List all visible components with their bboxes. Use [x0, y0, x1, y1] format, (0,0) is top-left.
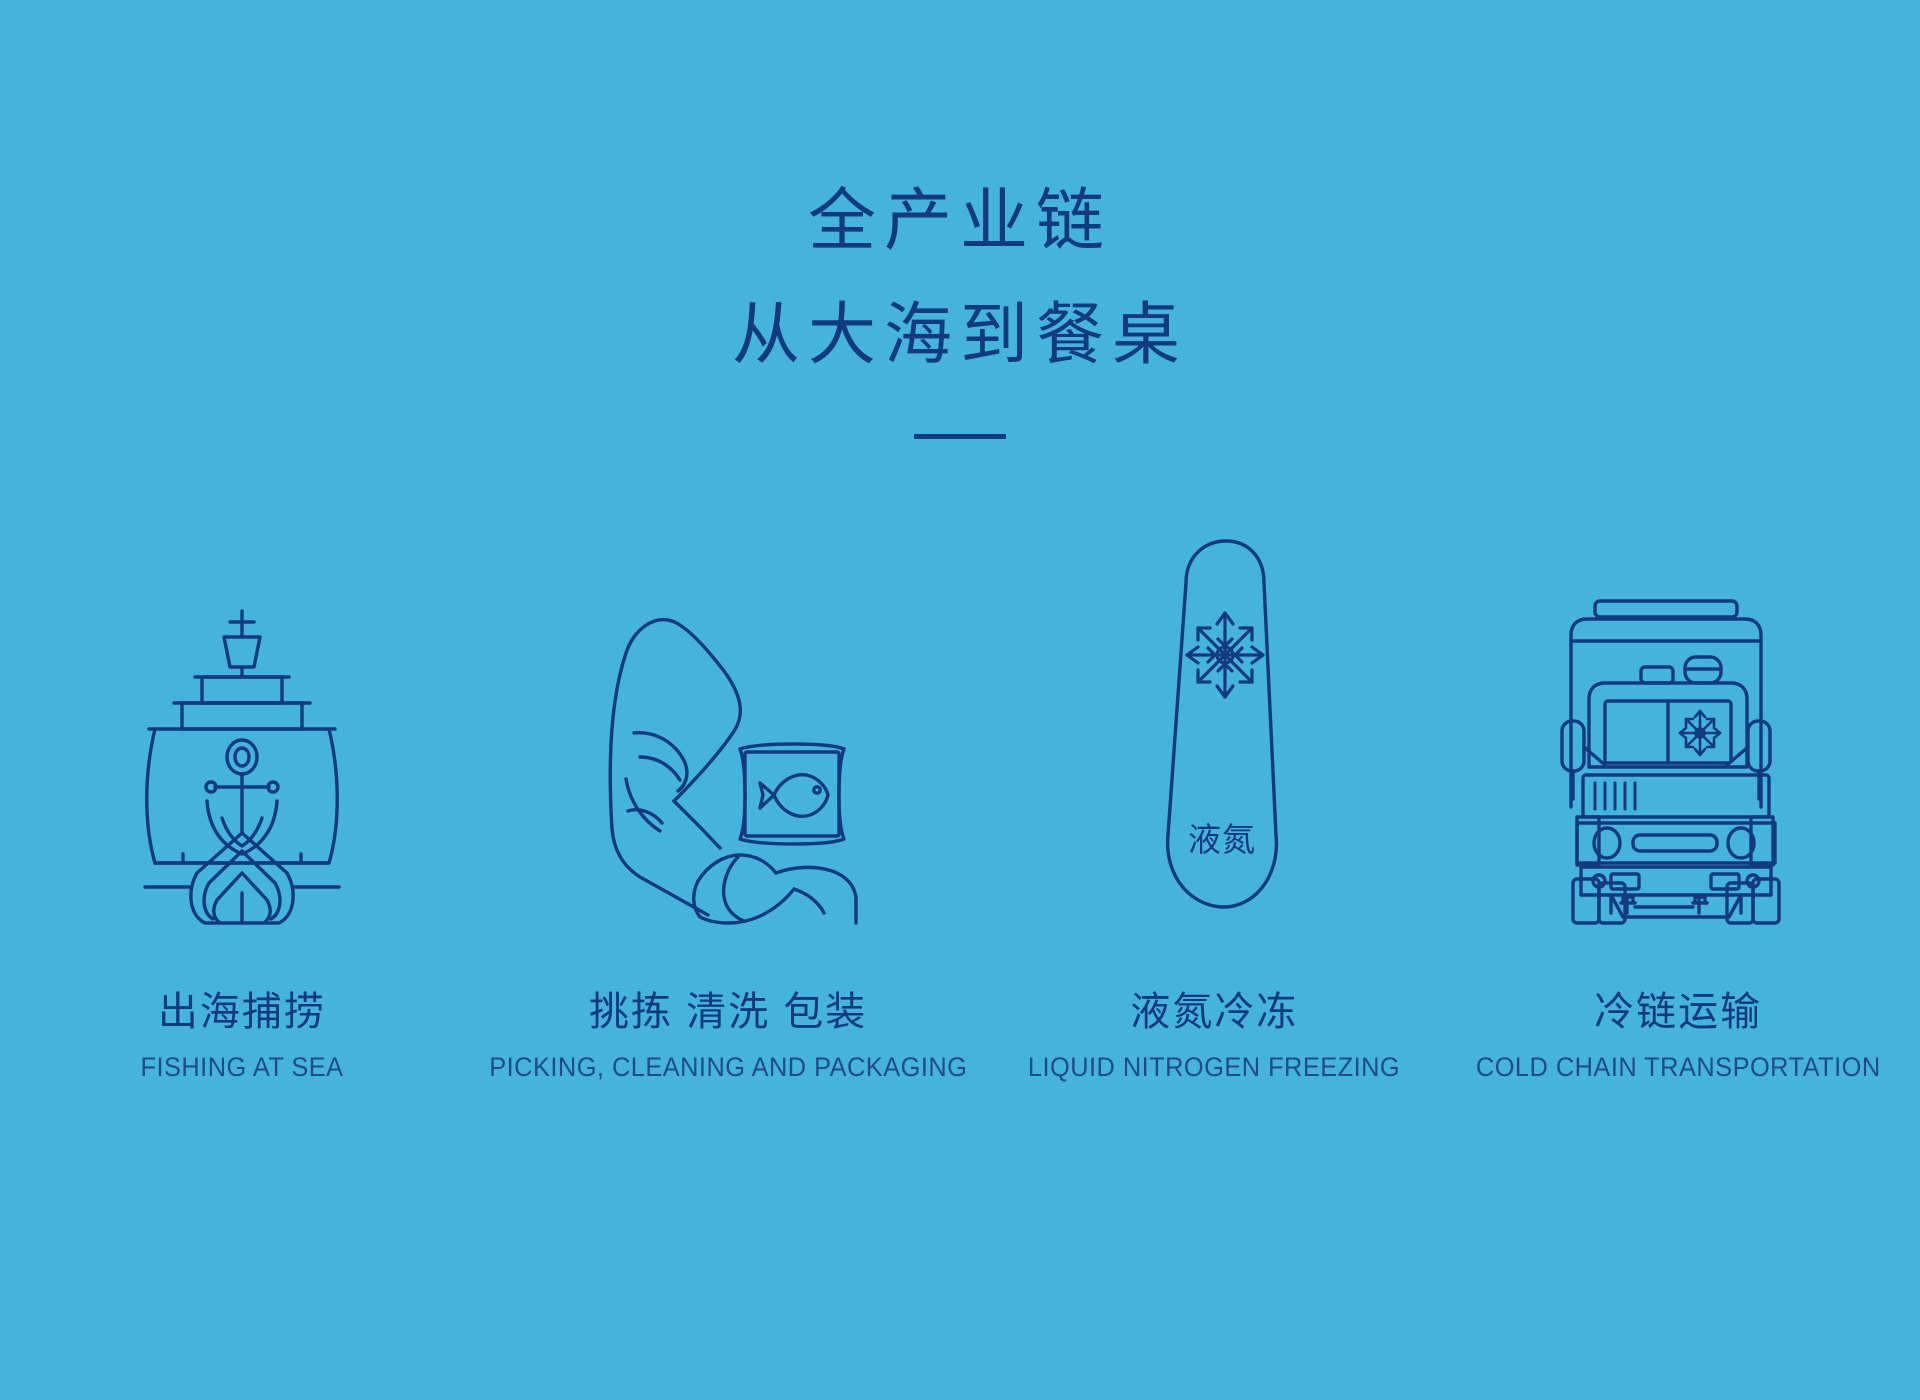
- step-labels: 出海捕捞 FISHING AT SEA: [134, 987, 350, 1083]
- refrigerated-truck-icon: [1553, 595, 1803, 925]
- hands-with-packaged-fish-icon: [588, 605, 868, 925]
- step-liquid-nitrogen-freezing[interactable]: 液氮 液氮冷冻 LIQUID NITROGEN FREEZING: [982, 505, 1446, 1083]
- step-icon-wrap: [588, 505, 868, 925]
- page-title-line-1: 全产业链: [0, 175, 1920, 267]
- process-steps: 出海捕捞 FISHING AT SEA: [0, 505, 1920, 1083]
- step-label-cn: 液氮冷冻: [1016, 987, 1412, 1037]
- page-title-line-2: 从大海到餐桌: [0, 289, 1920, 381]
- step-label-cn: 出海捕捞: [134, 987, 350, 1037]
- tank-label-text: 液氮: [1188, 821, 1256, 858]
- page-root: 全产业链 从大海到餐桌: [0, 0, 1920, 1400]
- step-label-en: LIQUID NITROGEN FREEZING: [1028, 1051, 1400, 1083]
- step-label-en: FISHING AT SEA: [140, 1051, 343, 1083]
- step-label-cn: 挑拣 清洗 包装: [474, 987, 983, 1037]
- step-label-en: PICKING, CLEANING AND PACKAGING: [489, 1051, 967, 1083]
- step-labels: 冷链运输 COLD CHAIN TRANSPORTATION: [1463, 987, 1894, 1083]
- step-labels: 挑拣 清洗 包装 PICKING, CLEANING AND PACKAGING: [474, 987, 983, 1083]
- snowflake-icon: [1187, 613, 1263, 697]
- snowflake-icon: [1680, 711, 1720, 755]
- liquid-nitrogen-tank-icon: 液氮: [1134, 535, 1294, 925]
- step-label-en: COLD CHAIN TRANSPORTATION: [1476, 1051, 1881, 1083]
- step-cold-chain-transportation[interactable]: 冷链运输 COLD CHAIN TRANSPORTATION: [1446, 505, 1910, 1083]
- step-labels: 液氮冷冻 LIQUID NITROGEN FREEZING: [1016, 987, 1412, 1083]
- fishing-boat-with-anchor-icon: [127, 605, 357, 925]
- step-label-cn: 冷链运输: [1463, 987, 1894, 1037]
- step-icon-wrap: [1553, 505, 1803, 925]
- step-fishing-at-sea[interactable]: 出海捕捞 FISHING AT SEA: [10, 505, 474, 1083]
- title-divider-wrap: [0, 426, 1920, 434]
- step-picking-cleaning-packaging[interactable]: 挑拣 清洗 包装 PICKING, CLEANING AND PACKAGING: [474, 505, 983, 1083]
- step-icon-wrap: [127, 505, 357, 925]
- title-divider: [914, 434, 1006, 439]
- step-icon-wrap: 液氮: [1134, 505, 1294, 925]
- header: 全产业链 从大海到餐桌: [0, 175, 1920, 434]
